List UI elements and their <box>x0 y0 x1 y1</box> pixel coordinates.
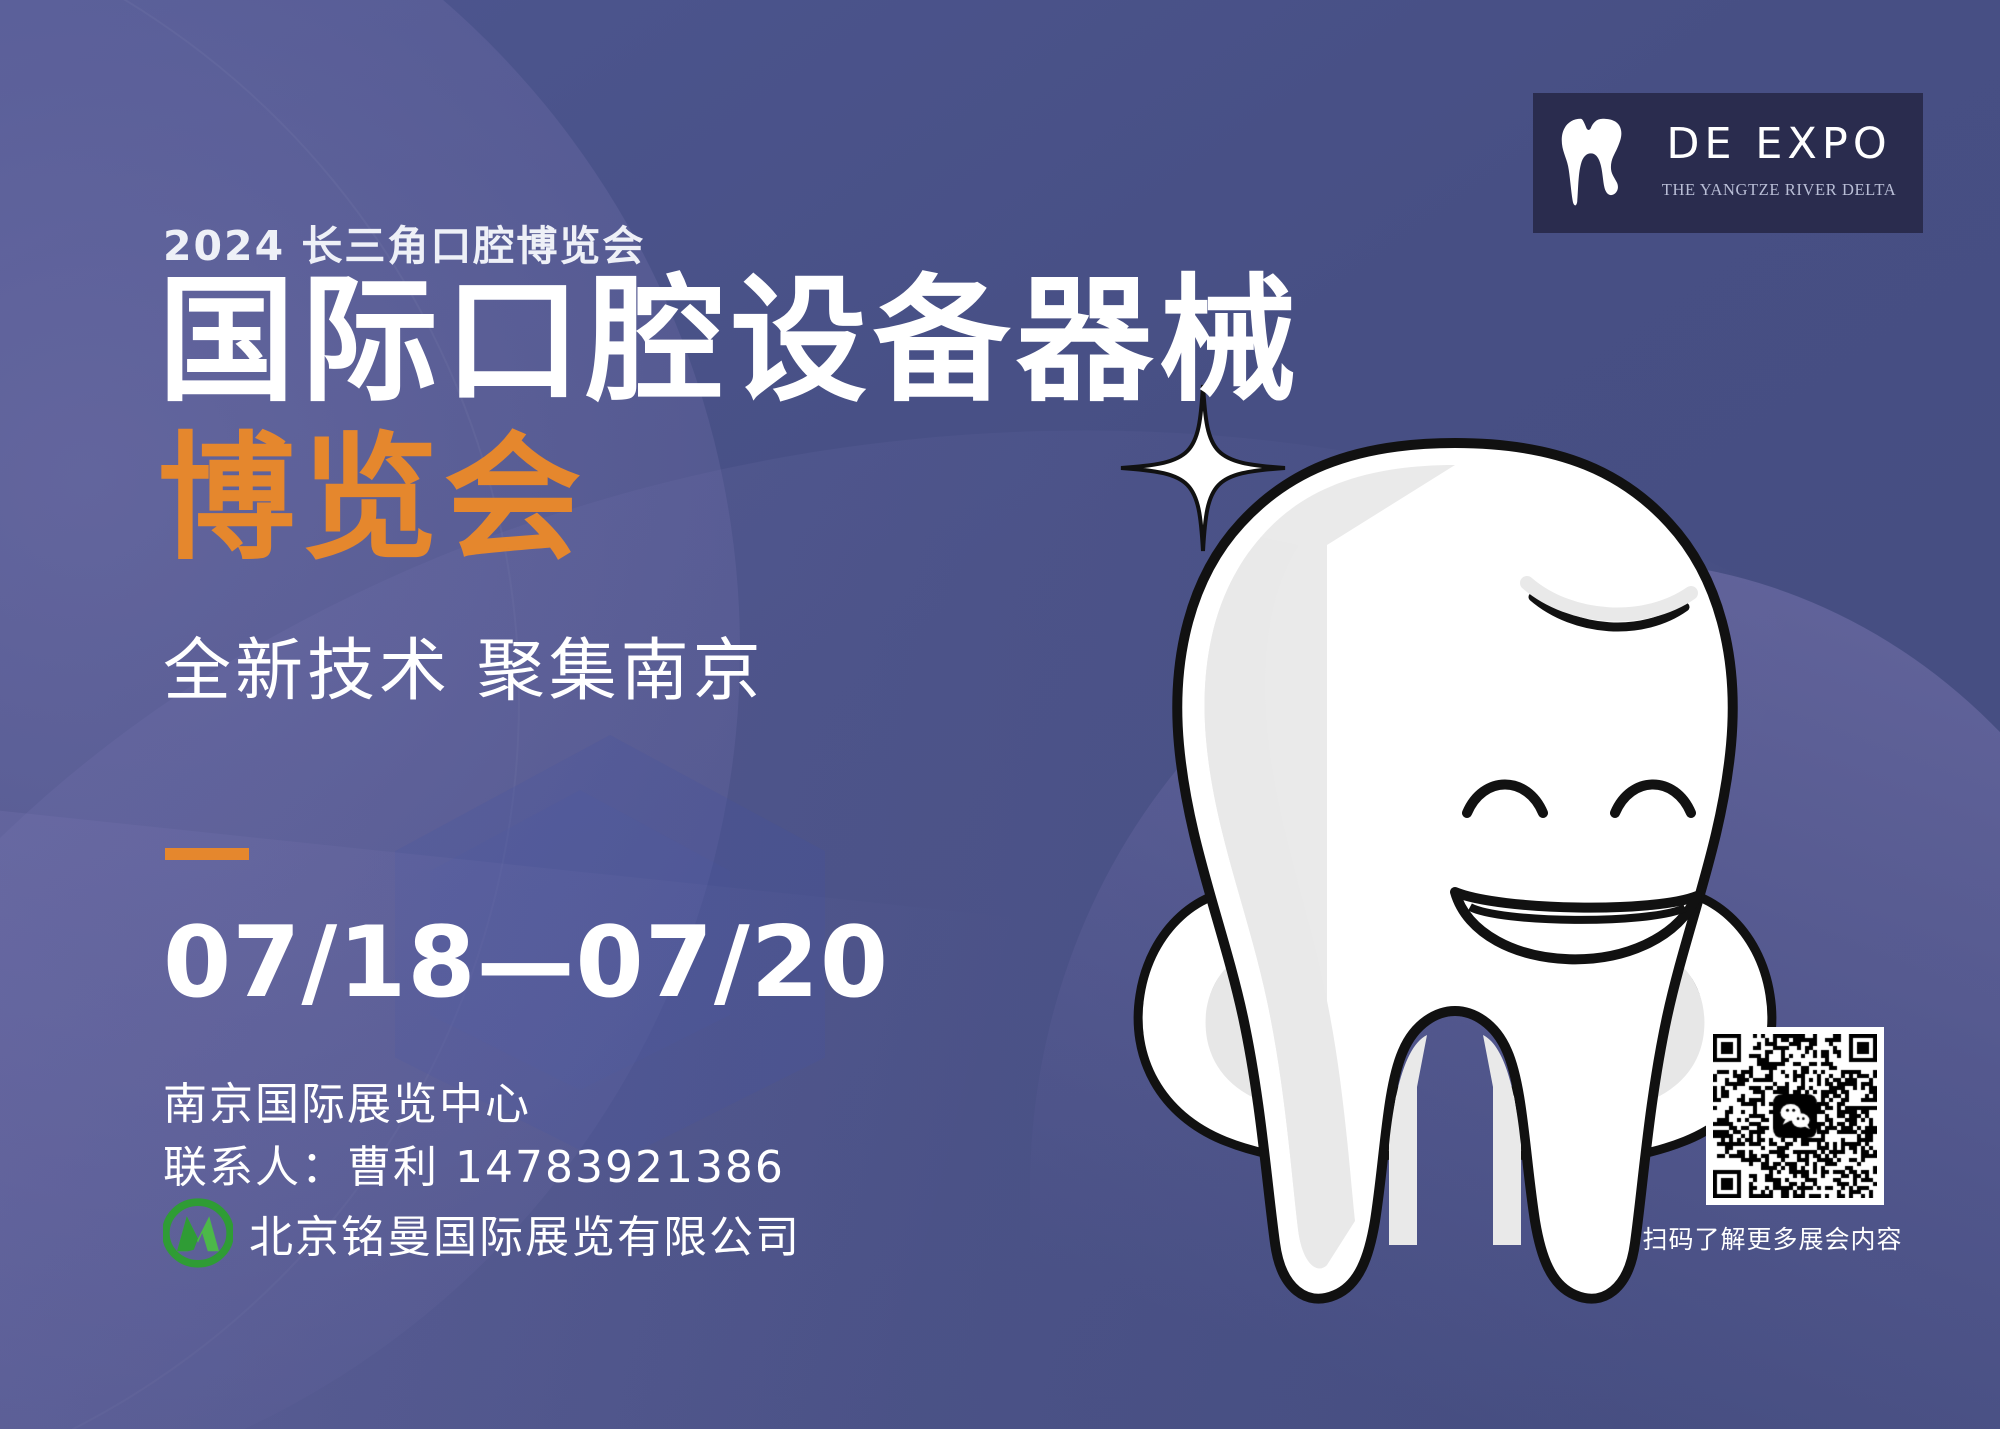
tooth-icon <box>1559 115 1641 211</box>
tagline-text: 全新技术 聚集南京 <box>163 615 765 714</box>
event-dates: 07/18—07/20 <box>163 906 889 1020</box>
accent-divider <box>165 848 249 860</box>
qr-block: 扫码了解更多展会内容 <box>1675 1027 1915 1256</box>
organizer-row: 北京铭曼国际展览有限公司 <box>163 1198 801 1268</box>
organizer-name: 北京铭曼国际展览有限公司 <box>249 1201 801 1265</box>
event-contact: 联系人：曹利 14783921386 <box>163 1131 785 1195</box>
organizer-logo-icon <box>163 1198 233 1268</box>
headline-line-2: 博览会 <box>158 430 587 570</box>
qr-canvas <box>1713 1034 1877 1198</box>
de-expo-logo-badge: DE EXPO THE YANGTZE RIVER DELTA <box>1533 93 1923 233</box>
qr-code[interactable] <box>1706 1027 1884 1205</box>
logo-subtitle: THE YANGTZE RIVER DELTA <box>1662 180 1896 200</box>
qr-caption: 扫码了解更多展会内容 <box>1630 1220 1915 1256</box>
event-venue: 南京国际展览中心 <box>163 1068 531 1132</box>
poster-canvas: DE EXPO THE YANGTZE RIVER DELTA <box>0 0 2000 1429</box>
headline-line-1: 国际口腔设备器械 <box>158 272 1302 412</box>
logo-title: DE EXPO <box>1666 123 1891 166</box>
